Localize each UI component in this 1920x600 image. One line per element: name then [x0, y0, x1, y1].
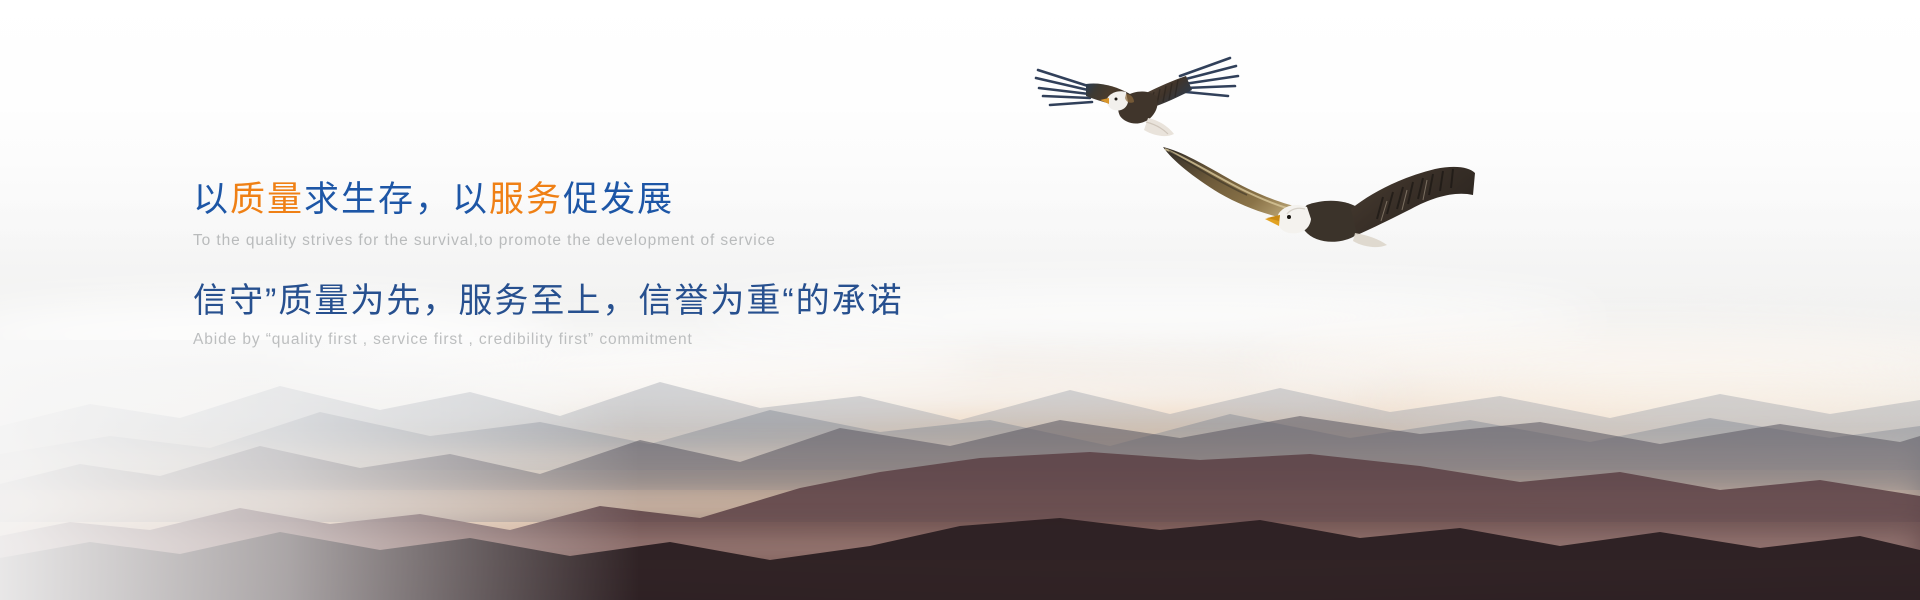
headline-seg-5: 促发展	[563, 180, 674, 219]
hero-banner: 以质量求生存，以服务促发展 To the quality strives for…	[0, 0, 1920, 600]
subtitle-secondary: Abide by “quality first , service first …	[193, 331, 1193, 349]
slogan-spacer	[193, 250, 1193, 280]
headline-primary: 以质量求生存，以服务促发展	[193, 178, 1193, 223]
headline-seg-4-accent: 服务	[489, 180, 563, 219]
headline-seg-1: 以	[193, 180, 230, 219]
headline-seg-3: 求生存，以	[304, 180, 489, 219]
headline-secondary: 信守”质量为先，服务至上，信誉为重“的承诺	[193, 280, 1193, 324]
subtitle-primary: To the quality strives for the survival,…	[193, 232, 1193, 250]
slogan-block: 以质量求生存，以服务促发展 To the quality strives for…	[193, 178, 1193, 349]
headline-seg-2-accent: 质量	[230, 180, 304, 219]
